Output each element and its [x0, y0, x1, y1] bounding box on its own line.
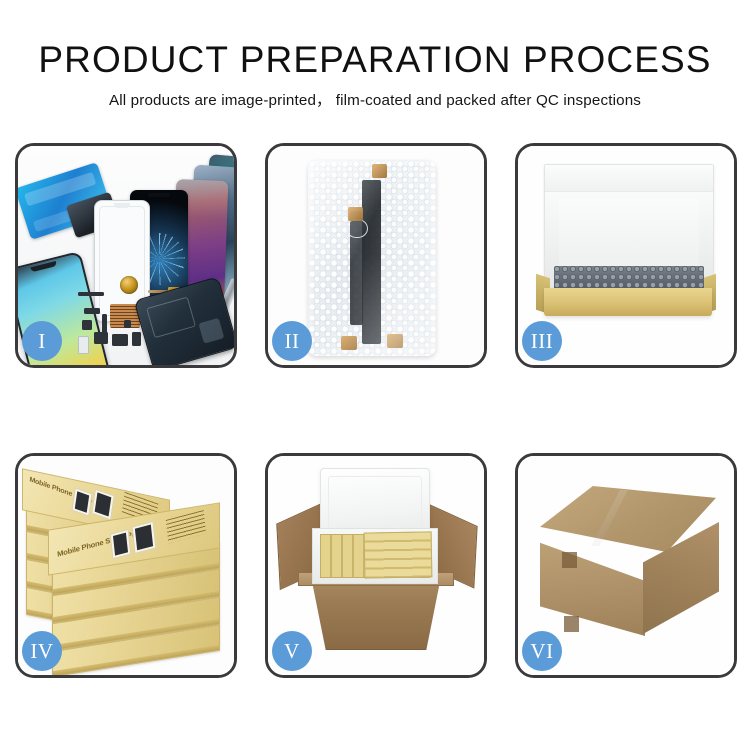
speaker-module-icon [112, 334, 128, 346]
process-step-panel-5: V [265, 453, 487, 678]
process-step-panel-3: III [515, 143, 737, 368]
small-part-icon [82, 320, 92, 330]
plastic-sheen-overlay [308, 160, 436, 356]
page-subtitle: All products are image-printed， film-coa… [0, 91, 750, 111]
camera-module-icon [120, 276, 138, 294]
bubble-wrap-bag-icon [308, 160, 436, 356]
header: PRODUCT PREPARATION PROCESS All products… [0, 38, 750, 111]
carton-tape-icon [562, 552, 577, 568]
small-part-icon [84, 308, 100, 314]
badge-step-6: VI [522, 631, 562, 671]
product-photo-placeholder [132, 521, 157, 554]
product-photo-placeholder [71, 487, 92, 516]
process-step-grid: I II [15, 143, 737, 678]
yellow-boxes-row-icon [364, 531, 433, 578]
process-step-panel-4: Mobile Phone Spare Parts Mobile Phone Sp… [15, 453, 237, 678]
badge-step-2: II [272, 321, 312, 361]
carton-body-icon [302, 576, 450, 650]
badge-step-1: I [22, 321, 62, 361]
carton-tape-icon [564, 616, 579, 632]
sim-tray-icon [78, 336, 89, 354]
product-preparation-infographic: PRODUCT PREPARATION PROCESS All products… [0, 0, 750, 750]
process-step-panel-2: II [265, 143, 487, 368]
badge-step-4: IV [22, 631, 62, 671]
small-part-icon [94, 332, 108, 344]
page-title: PRODUCT PREPARATION PROCESS [0, 38, 750, 82]
label-spec-lines [166, 510, 206, 543]
phone-notch-icon [148, 193, 170, 197]
phone-notch-icon [30, 261, 56, 272]
flex-strip-icon [78, 292, 104, 296]
badge-step-5: V [272, 631, 312, 671]
process-step-panel-1: I [15, 143, 237, 368]
product-photo-placeholder [91, 489, 114, 521]
product-photo-placeholder [110, 529, 132, 559]
kraft-box-front-icon [544, 288, 712, 316]
badge-step-3: III [522, 321, 562, 361]
small-part-icon [132, 332, 141, 346]
small-part-icon [124, 320, 131, 328]
process-step-panel-6: VI [515, 453, 737, 678]
